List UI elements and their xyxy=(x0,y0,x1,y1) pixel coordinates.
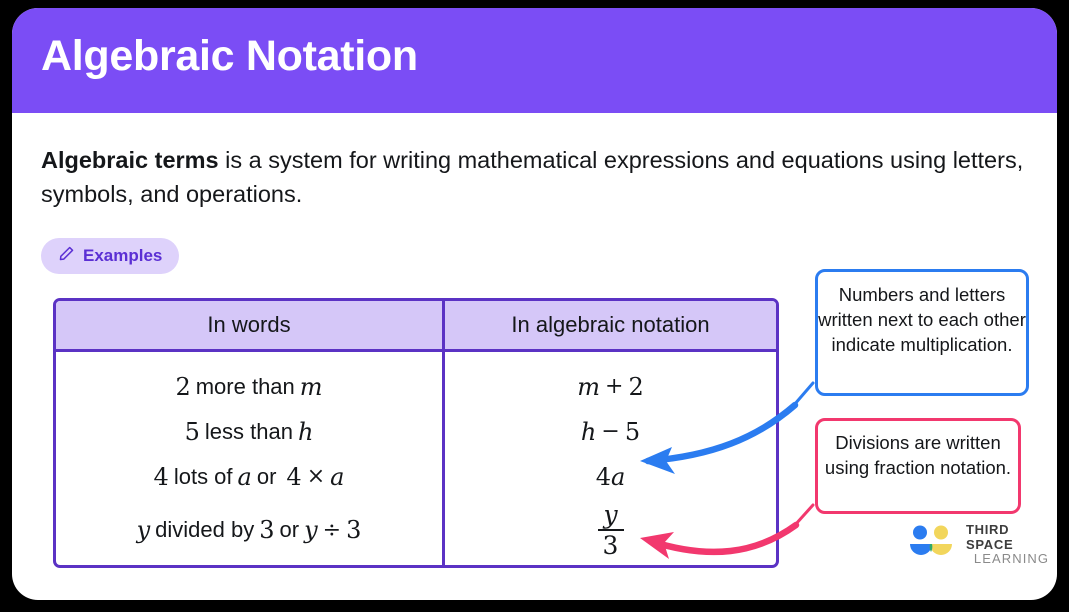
callout-division-text: Divisions are written using fraction not… xyxy=(825,432,1011,478)
examples-badge[interactable]: Examples xyxy=(41,238,179,274)
notation-variable: m xyxy=(577,373,600,401)
cell-number: 2 xyxy=(175,373,190,401)
cell-variable: a xyxy=(238,463,252,491)
definition-term: Algebraic terms xyxy=(41,147,219,173)
cell-conjunction: or xyxy=(257,464,277,490)
brand-name-line-1: THIRD SPACE xyxy=(966,523,1057,552)
third-space-mark-icon xyxy=(905,524,957,565)
cell-variable: m xyxy=(300,373,323,401)
definition-text: Algebraic terms is a system for writing … xyxy=(41,143,1026,211)
examples-table: In words In algebraic notation 2more tha… xyxy=(53,298,779,568)
cell-conjunction: or xyxy=(280,517,300,543)
pink-callout-tail-edge xyxy=(795,505,813,525)
column-header-in-algebraic-notation: In algebraic notation xyxy=(442,301,776,349)
cell-alt-operator: ÷ xyxy=(323,518,341,543)
cell-text: lots of xyxy=(174,464,233,490)
notation-variable: h xyxy=(581,418,596,446)
notation-operator: + xyxy=(605,374,623,399)
cell-alt-operator: × xyxy=(307,464,325,489)
cell-text: divided by xyxy=(155,517,254,543)
blue-callout-tail-fill xyxy=(795,381,812,404)
fraction: y 3 xyxy=(598,502,624,559)
examples-badge-label: Examples xyxy=(83,246,162,266)
column-header-in-words: In words xyxy=(56,301,442,349)
cell-text: more than xyxy=(196,374,295,400)
table-row: 4lots ofaor4×a xyxy=(56,454,442,499)
table-row: 5less thanh xyxy=(56,409,442,454)
table-row: 2more thanm xyxy=(56,364,442,409)
notation-number: 5 xyxy=(625,418,640,446)
callout-multiplication: Numbers and letters written next to each… xyxy=(815,269,1029,396)
cell-alt-number: 4 xyxy=(286,463,301,491)
table-body: 2more thanm 5less thanh 4lots ofaor4×a y… xyxy=(56,352,776,568)
cell-alt-number: 3 xyxy=(346,516,361,544)
cell-number: 3 xyxy=(259,516,274,544)
table-row: m+2 xyxy=(445,364,776,409)
callout-division: Divisions are written using fraction not… xyxy=(815,418,1021,514)
blue-callout-tail-edge xyxy=(794,383,813,405)
cell-variable: y xyxy=(137,516,151,544)
fraction-denominator: 3 xyxy=(603,531,619,558)
lesson-card: Algebraic Notation Algebraic terms is a … xyxy=(12,8,1057,600)
table-row: ydivided by3ory÷3 xyxy=(56,499,442,561)
table-row: y 3 xyxy=(445,499,776,561)
brand-logo: THIRD SPACE LEARNING xyxy=(905,523,1057,567)
notation-variable: a xyxy=(611,463,625,491)
pink-callout-tail-fill xyxy=(796,503,812,524)
cell-alt-variable: a xyxy=(330,463,344,491)
cell-variable: h xyxy=(298,418,313,446)
table-column-notation: m+2 h−5 4a y 3 xyxy=(442,352,776,568)
table-header-row: In words In algebraic notation xyxy=(56,301,776,352)
pencil-icon xyxy=(58,245,75,267)
brand-name-line-2: LEARNING xyxy=(966,552,1057,567)
notation-coefficient: 4 xyxy=(596,463,611,491)
notation-number: 2 xyxy=(628,373,643,401)
notation-operator: − xyxy=(601,419,619,444)
brand-logo-text: THIRD SPACE LEARNING xyxy=(966,523,1057,567)
page-title: Algebraic Notation xyxy=(41,32,418,81)
cell-number: 5 xyxy=(185,418,200,446)
callout-multiplication-text: Numbers and letters written next to each… xyxy=(818,284,1026,355)
cell-alt-variable: y xyxy=(304,516,318,544)
cell-text: less than xyxy=(205,419,293,445)
screenshot-canvas: Algebraic Notation Algebraic terms is a … xyxy=(0,0,1069,612)
fraction-numerator: y xyxy=(603,502,617,529)
table-row: 4a xyxy=(445,454,776,499)
card-header: Algebraic Notation xyxy=(12,8,1057,113)
table-column-words: 2more thanm 5less thanh 4lots ofaor4×a y… xyxy=(56,352,442,568)
cell-number: 4 xyxy=(154,463,169,491)
table-row: h−5 xyxy=(445,409,776,454)
